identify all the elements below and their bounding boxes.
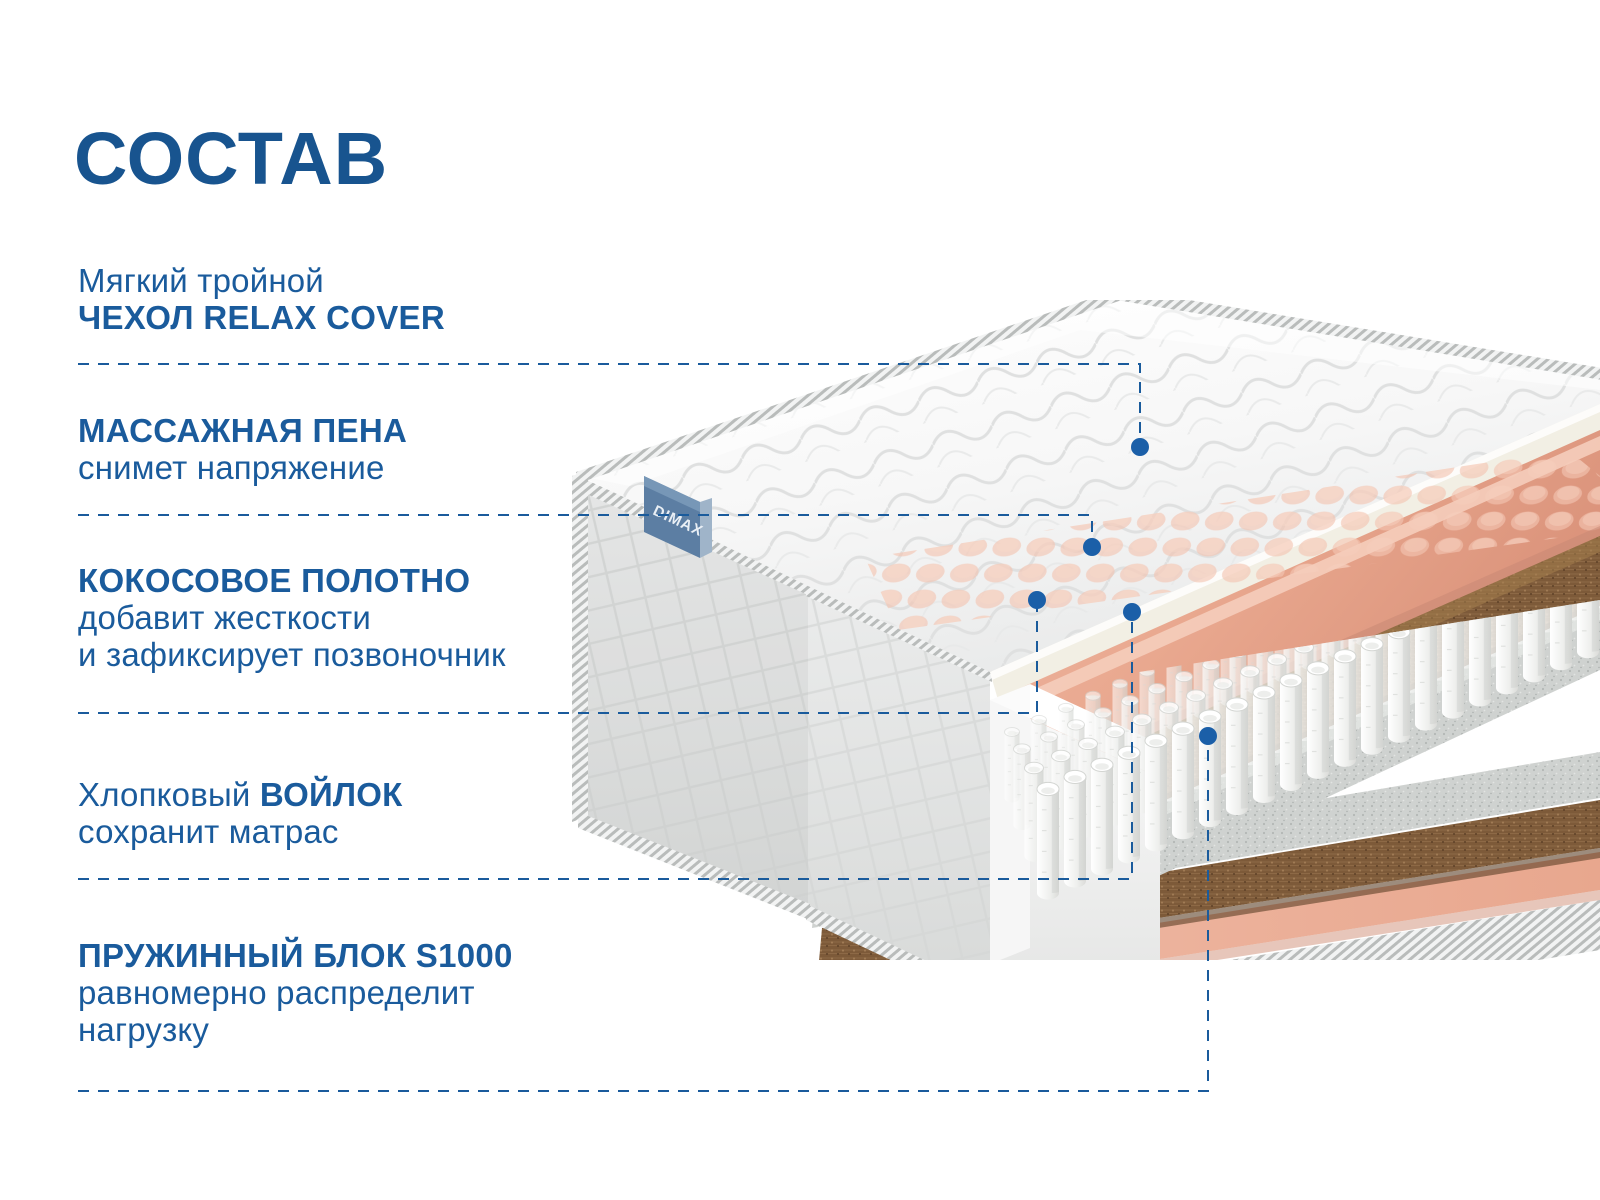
spec-line: Мягкий тройной <box>78 263 445 300</box>
spec-relax-cover: Мягкий тройной ЧЕХОЛ RELAX COVER <box>78 263 445 337</box>
spec-line: снимет напряжение <box>78 450 407 487</box>
spec-coconut-coir: КОКОСОВОЕ ПОЛОТНО добавит жесткости и за… <box>78 563 506 674</box>
spec-line: КОКОСОВОЕ ПОЛОТНО <box>78 563 506 600</box>
spec-line: МАССАЖНАЯ ПЕНА <box>78 413 407 450</box>
spec-line: нагрузку <box>78 1012 513 1049</box>
infographic-canvas: СОСТАВ <box>0 0 1600 1200</box>
spec-line: добавит жесткости <box>78 600 506 637</box>
spec-line: ПРУЖИННЫЙ БЛОК S1000 <box>78 938 513 975</box>
spec-line: и зафиксирует позвоночник <box>78 637 506 674</box>
spec-line: сохранит матрас <box>78 814 402 851</box>
spec-line: равномерно распределит <box>78 975 513 1012</box>
spec-line-prefix: Хлопковый <box>78 776 260 813</box>
spec-line-emphasis: ВОЙЛОК <box>260 776 403 813</box>
page-title: СОСТАВ <box>74 122 388 196</box>
spec-massage-foam: МАССАЖНАЯ ПЕНА снимет напряжение <box>78 413 407 487</box>
spec-line: ЧЕХОЛ RELAX COVER <box>78 300 445 337</box>
mattress-cutaway-illustration: DIMAX <box>560 300 1600 960</box>
spec-spring-block: ПРУЖИННЫЙ БЛОК S1000 равномерно распреде… <box>78 938 513 1049</box>
spec-line: Хлопковый ВОЙЛОК <box>78 777 402 814</box>
spec-cotton-felt: Хлопковый ВОЙЛОК сохранит матрас <box>78 777 402 851</box>
